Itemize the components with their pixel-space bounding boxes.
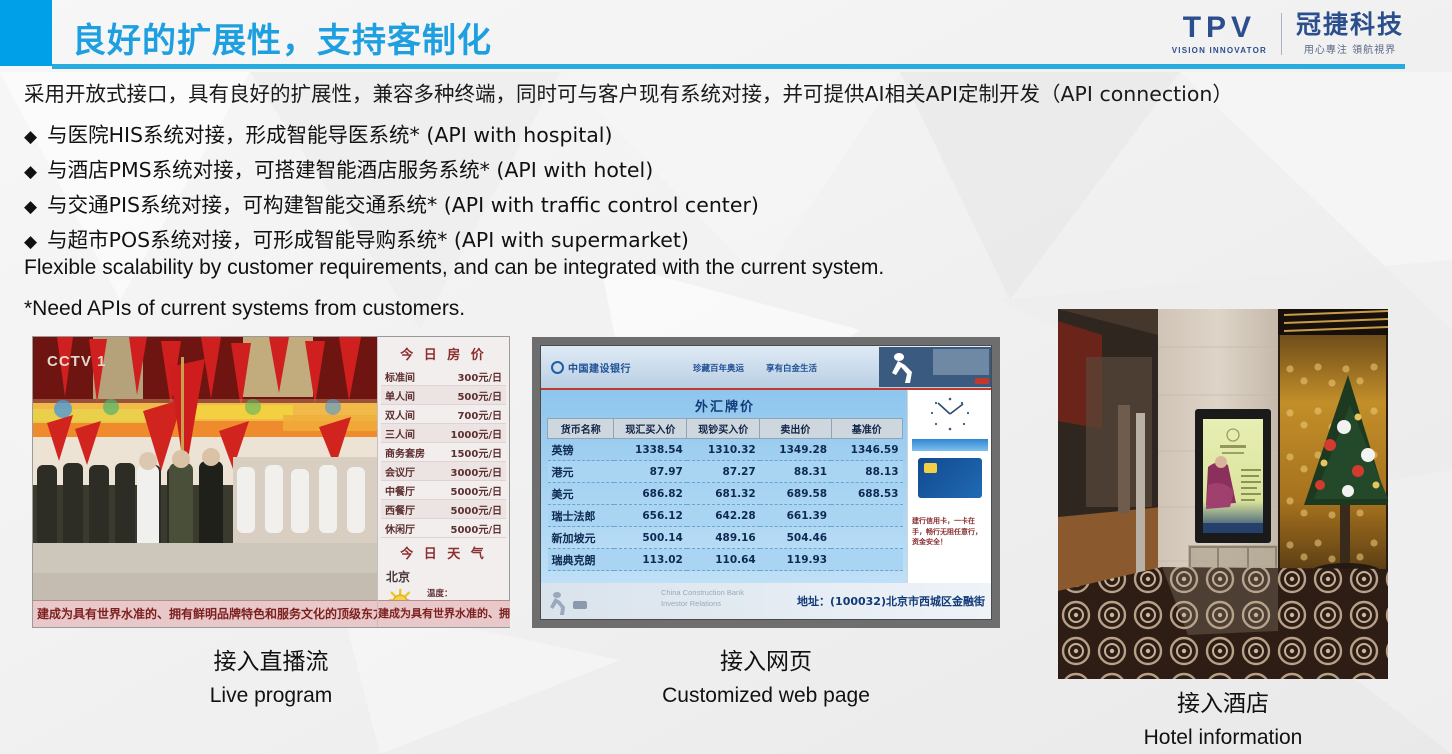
tpv-logo-tagline: VISION INNOVATOR <box>1172 46 1267 55</box>
fx-cell-buy-rate: 113.02 <box>614 549 687 571</box>
fx-cell-cash-buy: 489.16 <box>687 527 760 549</box>
fx-cell-currency: 新加坡元 <box>548 527 614 549</box>
bank-slogans: 珍藏百年奥运 享有白金生活 <box>631 360 879 374</box>
fx-cell-buy-rate: 656.12 <box>614 505 687 527</box>
figure-live-program: CCTV 1 建成为具有世界水准的、拥有鲜明品牌特色和服务文化的顶级东方酒店品牌… <box>32 336 510 628</box>
price-room-name: 休闲厅 <box>385 521 415 536</box>
fx-cell-buy-rate: 500.14 <box>614 527 687 549</box>
hotel-info-panel: 今 日 房 价 标准间300元/日单人间500元/日双人间700元/日三人间10… <box>377 337 509 627</box>
price-amount: 1000元/日 <box>451 426 502 441</box>
card-chip-icon <box>924 463 937 473</box>
panel-ticker-text: 建成为具有世界水准的、拥有鲜明品牌特色和服务文化的顶级东方酒店品牌之一。 <box>378 601 510 627</box>
bullet-label: 与超市POS系统对接，可形成智能导购系统* (API with supermar… <box>47 223 689 253</box>
fx-table-header-row: 货币名称现汇买入价现钞买入价卖出价基准价 <box>548 419 903 439</box>
fx-column-header: 货币名称 <box>548 419 614 439</box>
live-program-screenshot: CCTV 1 建成为具有世界水准的、拥有鲜明品牌特色和服务文化的顶级东方酒店品牌… <box>33 337 377 627</box>
caption-en: Customized web page <box>532 684 1000 708</box>
fx-table-body: 英镑1338.541310.321349.281346.59港元87.9787.… <box>548 439 903 571</box>
header-underline <box>52 64 1405 69</box>
price-table: 标准间300元/日单人间500元/日双人间700元/日三人间1000元/日商务套… <box>381 367 506 538</box>
fx-cell-cash-buy: 1310.32 <box>687 439 760 461</box>
bank-sidebar: 建行信用卡，一卡在手，畅行无阻任意行，资金安全！ <box>907 390 991 583</box>
fx-cell-currency: 瑞士法郎 <box>548 505 614 527</box>
bank-slogan-2: 享有白金生活 <box>766 362 817 374</box>
brand-divider <box>1281 13 1282 55</box>
price-room-name: 会议厅 <box>385 464 415 479</box>
diamond-bullet-icon: ◆ <box>24 128 37 145</box>
athlete-banner-image <box>879 347 991 387</box>
bank-content: 外汇牌价 货币名称现汇买入价现钞买入价卖出价基准价 英镑1338.541310.… <box>541 390 991 583</box>
price-room-name: 西餐厅 <box>385 502 415 517</box>
sidebar-accent-band <box>912 439 988 451</box>
price-room-name: 双人间 <box>385 407 415 422</box>
caption-en: Hotel information <box>1058 726 1388 750</box>
bullet-label: 与交通PIS系统对接，可构建智能交通系统* (API with traffic … <box>47 188 759 218</box>
weather-city: 北京 <box>381 568 506 585</box>
bank-footer: China Construction BankInvestor Relation… <box>541 583 991 619</box>
price-row: 中餐厅5000元/日 <box>381 481 506 500</box>
caption-cn: 接入网页 <box>532 642 1000 676</box>
weather-title: 今 日 天 气 <box>381 538 506 566</box>
bullet-item-traffic: ◆ 与交通PIS系统对接，可构建智能交通系统* (API with traffi… <box>24 188 759 218</box>
fx-cell-cash-buy: 681.32 <box>687 483 760 505</box>
tpv-logo-text: TPV <box>1183 13 1256 43</box>
fx-column-header: 现钞买入价 <box>687 419 760 439</box>
fx-cell-base <box>831 505 902 527</box>
fx-cell-sell: 689.58 <box>760 483 831 505</box>
bank-card-image <box>918 458 982 498</box>
bullet-item-supermarket: ◆ 与超市POS系统对接，可形成智能导购系统* (API with superm… <box>24 223 689 253</box>
price-room-name: 中餐厅 <box>385 483 415 498</box>
fx-board-title: 外汇牌价 <box>547 394 903 418</box>
bullet-label: 与酒店PMS系统对接，可搭建智能酒店服务系统* (API with hotel) <box>47 153 653 183</box>
price-amount: 500元/日 <box>457 388 502 403</box>
bank-name: 中国建设银行 <box>568 360 631 375</box>
weather-label: 温度： <box>427 589 464 600</box>
fx-column-header: 现汇买入价 <box>614 419 687 439</box>
price-amount: 300元/日 <box>457 369 502 384</box>
footer-english-text: China Construction BankInvestor Relation… <box>661 587 744 610</box>
price-table-title: 今 日 房 价 <box>381 341 506 367</box>
fx-cell-base: 688.53 <box>831 483 902 505</box>
price-amount: 5000元/日 <box>451 483 502 498</box>
fx-rates-table: 货币名称现汇买入价现钞买入价卖出价基准价 英镑1338.541310.32134… <box>547 418 903 571</box>
lead-paragraph: 采用开放式接口，具有良好的扩展性，兼容多种终端，同时可与客户现有系统对接，并可提… <box>24 84 1233 105</box>
price-row: 西餐厅5000元/日 <box>381 500 506 519</box>
fx-cell-base: 88.13 <box>831 461 902 483</box>
price-room-name: 三人间 <box>385 426 415 441</box>
fx-board: 外汇牌价 货币名称现汇买入价现钞买入价卖出价基准价 英镑1338.541310.… <box>541 390 907 583</box>
bullet-item-hospital: ◆ 与医院HIS系统对接，形成智能导医系统* (API with hospita… <box>24 118 613 148</box>
footer-english-line: China Construction Bank <box>661 587 744 598</box>
caption-cn: 接入直播流 <box>32 642 510 676</box>
figure-hotel-lobby <box>1058 309 1388 679</box>
price-row: 三人间1000元/日 <box>381 424 506 443</box>
fx-cell-base: 1346.59 <box>831 439 902 461</box>
price-row: 商务套房1500元/日 <box>381 443 506 462</box>
fx-cell-sell: 661.39 <box>760 505 831 527</box>
fx-cell-currency: 港元 <box>548 461 614 483</box>
bank-logo-icon <box>551 361 564 374</box>
fx-table-row: 美元686.82681.32689.58688.53 <box>548 483 903 505</box>
brand-chinese-tagline: 用心專注 領航視界 <box>1304 41 1396 56</box>
diamond-bullet-icon: ◆ <box>24 163 37 180</box>
fx-cell-sell: 504.46 <box>760 527 831 549</box>
fx-cell-sell: 88.31 <box>760 461 831 483</box>
brand-chinese: 冠捷科技 用心專注 領航視界 <box>1296 12 1404 56</box>
panel-ticker: 建成为具有世界水准的、拥有鲜明品牌特色和服务文化的顶级东方酒店品牌之一。 <box>378 600 510 627</box>
price-row: 标准间300元/日 <box>381 367 506 386</box>
bullet-label: 与医院HIS系统对接，形成智能导医系统* (API with hospital) <box>47 118 612 148</box>
price-row: 单人间500元/日 <box>381 386 506 405</box>
fx-table-row: 港元87.9787.2788.3188.13 <box>548 461 903 483</box>
flexible-scalability-line: Flexible scalability by customer require… <box>24 257 884 278</box>
figure-web-page-caption: 接入网页 Customized web page <box>532 642 1000 708</box>
bullet-item-hotel: ◆ 与酒店PMS系统对接，可搭建智能酒店服务系统* (API with hote… <box>24 153 653 183</box>
fx-cell-cash-buy: 110.64 <box>687 549 760 571</box>
broadcast-ticker: 建成为具有世界水准的、拥有鲜明品牌特色和服务文化的顶级东方酒店品牌之一。 <box>33 600 377 627</box>
fx-table-row: 新加坡元500.14489.16504.46 <box>548 527 903 549</box>
fx-cell-sell: 119.93 <box>760 549 831 571</box>
figure-web-page: 中国建设银行 珍藏百年奥运 享有白金生活 外汇牌价 货币名称现汇买入价现钞买入价… <box>532 337 1000 628</box>
fx-cell-sell: 1349.28 <box>760 439 831 461</box>
price-amount: 5000元/日 <box>451 521 502 536</box>
price-row: 会议厅3000元/日 <box>381 462 506 481</box>
page-title: 良好的扩展性，支持客制化 <box>72 13 492 62</box>
caption-cn: 接入酒店 <box>1058 684 1388 718</box>
brand-chinese-name: 冠捷科技 <box>1296 12 1404 38</box>
price-row: 休闲厅5000元/日 <box>381 519 506 538</box>
fx-cell-buy-rate: 686.82 <box>614 483 687 505</box>
fx-cell-currency: 瑞典克朗 <box>548 549 614 571</box>
fx-cell-base <box>831 527 902 549</box>
clock-icon <box>922 393 978 437</box>
figure-hotel-caption: 接入酒店 Hotel information <box>1058 684 1388 750</box>
sidebar-note: 建行信用卡，一卡在手，畅行无阻任意行，资金安全！ <box>908 516 991 548</box>
cctv-channel-logo: CCTV 1 <box>47 353 106 370</box>
bank-address: 地址：(100032)北京市西城区金融街 <box>797 593 985 609</box>
fx-table-row: 瑞士法郎656.12642.28661.39 <box>548 505 903 527</box>
fx-table-row: 英镑1338.541310.321349.281346.59 <box>548 439 903 461</box>
fx-cell-buy-rate: 87.97 <box>614 461 687 483</box>
price-room-name: 标准间 <box>385 369 415 384</box>
footer-english-line: Investor Relations <box>661 598 744 609</box>
need-apis-note: *Need APIs of current systems from custo… <box>24 298 465 319</box>
header-accent-block <box>0 0 52 66</box>
figure-live-program-caption: 接入直播流 Live program <box>32 642 510 708</box>
diamond-bullet-icon: ◆ <box>24 198 37 215</box>
bank-header: 中国建设银行 珍藏百年奥运 享有白金生活 <box>541 346 991 390</box>
broadcast-ticker-text: 建成为具有世界水准的、拥有鲜明品牌特色和服务文化的顶级东方酒店品牌之一。 <box>33 601 377 627</box>
fx-cell-cash-buy: 87.27 <box>687 461 760 483</box>
fx-cell-currency: 英镑 <box>548 439 614 461</box>
bank-logo: 中国建设银行 <box>541 360 631 375</box>
price-amount: 5000元/日 <box>451 502 502 517</box>
price-room-name: 商务套房 <box>385 445 425 460</box>
hotel-lobby-photo <box>1058 309 1388 679</box>
fx-cell-cash-buy: 642.28 <box>687 505 760 527</box>
caption-en: Live program <box>32 684 510 708</box>
tpv-logo: TPV VISION INNOVATOR <box>1172 13 1267 55</box>
footer-athlete-icon <box>543 584 623 618</box>
diamond-bullet-icon: ◆ <box>24 233 37 250</box>
price-amount: 3000元/日 <box>451 464 502 479</box>
price-room-name: 单人间 <box>385 388 415 403</box>
price-amount: 1500元/日 <box>451 445 502 460</box>
price-amount: 700元/日 <box>457 407 502 422</box>
fx-table-row: 瑞典克朗113.02110.64119.93 <box>548 549 903 571</box>
fx-cell-buy-rate: 1338.54 <box>614 439 687 461</box>
fx-column-header: 卖出价 <box>760 419 831 439</box>
fx-cell-base <box>831 549 902 571</box>
brand-logo: TPV VISION INNOVATOR 冠捷科技 用心專注 領航視界 <box>1172 12 1404 56</box>
fx-column-header: 基准价 <box>831 419 902 439</box>
fx-cell-currency: 美元 <box>548 483 614 505</box>
price-row: 双人间700元/日 <box>381 405 506 424</box>
bank-slogan-1: 珍藏百年奥运 <box>693 362 744 374</box>
